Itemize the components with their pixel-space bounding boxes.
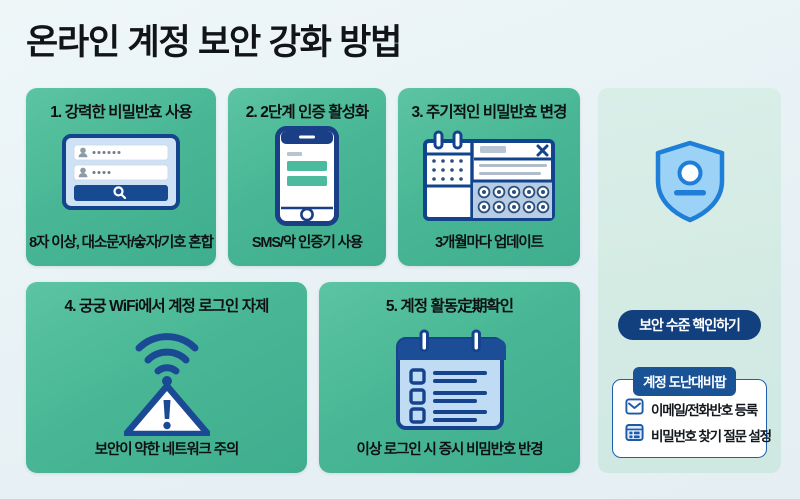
tip-label: 비밀번호 찾기 절문 설정 [651, 425, 771, 445]
tip-item-email-phone[interactable]: 이메일/전화반호 등룩 [621, 396, 758, 422]
card-title: 4. 궁궁 WiFi에서 계정 로그인 자제 [30, 294, 303, 316]
card-periodic-change[interactable]: 3. 주기적인 비밀반효 변경 [398, 88, 580, 266]
theft-prevention-header: 계정 도난대비팝 [633, 367, 736, 396]
check-security-level-button[interactable]: 보안 수준 핵인하기 [618, 310, 761, 340]
tip-label: 이메일/전화반호 등룩 [651, 399, 757, 419]
smartphone-icon [228, 126, 386, 226]
card-title: 2. 2단계 인증 활성화 [232, 100, 382, 122]
card-caption: 3개월마다 업데이트 [401, 231, 577, 252]
card-strong-password[interactable]: 1. 강력한 비밀반효 사용 8자 이상, [26, 88, 216, 266]
checklist-calendar-icon [319, 324, 580, 436]
card-activity-check[interactable]: 5. 계정 활동定期확인 이상 로그인 시 증시 비밈반호 반 [319, 282, 580, 473]
card-caption: 8자 이상, 대소문자/숳자/기호 혼합 [29, 231, 213, 252]
card-public-wifi[interactable]: 4. 궁궁 WiFi에서 계정 로그인 자제 보안이 약한 네트워크 주의 [26, 282, 307, 473]
card-title: 1. 강력한 비밀반효 사용 [30, 100, 212, 122]
card-title: 3. 주기적인 비밀반효 변경 [402, 100, 576, 122]
card-caption: SMS/악 인증기 사용 [231, 231, 383, 252]
theft-prevention-box: 계정 도난대비팝 이메일/전화반호 등룩 [612, 379, 767, 458]
login-form-icon [26, 132, 216, 212]
card-caption: 보안이 약한 네트워크 주의 [29, 438, 304, 459]
calendar-dialog-icon [398, 130, 580, 222]
shield-person-icon [598, 140, 781, 224]
card-two-factor-auth[interactable]: 2. 2단계 인증 활성화 SMS/악 인증기 사용 [228, 88, 386, 266]
envelope-check-icon [625, 398, 644, 420]
security-summary-panel: 보안 수준 핵인하기 계정 도난대비팝 이메일/전화반호 등룩 [598, 88, 781, 473]
wifi-warning-icon [26, 324, 307, 436]
tip-item-recovery-question[interactable]: 비밀번호 찾기 절문 설정 [621, 422, 758, 448]
form-question-icon [625, 424, 644, 446]
page-title: 온라인 계정 보안 강화 방법 [26, 14, 401, 65]
card-caption: 이상 로그인 시 증시 비밈반호 반경 [322, 438, 577, 459]
card-title: 5. 계정 활동定期확인 [323, 294, 576, 316]
